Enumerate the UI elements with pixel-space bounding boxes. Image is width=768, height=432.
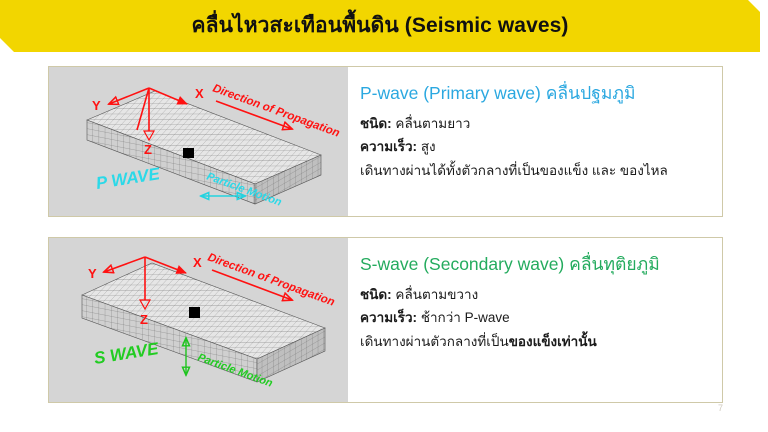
s-wave-medium-emphasis: ของแข็งเท่านั้น [509, 334, 597, 349]
axis-label-x: X [195, 86, 204, 101]
s-wave-medium-line: เดินทางผ่านตัวกลางที่เป็นของแข็งเท่านั้น [360, 332, 712, 353]
p-wave-card: X Y Z Direction of Propagation P WAVE Pa… [48, 66, 723, 217]
s-wave-heading: S-wave (Secondary wave) คลื่นทุติยภูมิ [360, 254, 712, 276]
s-wave-speed-label: ความเร็ว: [360, 310, 417, 325]
page-number: 7 [718, 403, 723, 413]
s-wave-type-line: ชนิด: คลื่นตามขวาง [360, 285, 712, 306]
s-wave-type-label: ชนิด: [360, 287, 392, 302]
axis-label-y: Y [88, 266, 97, 281]
p-wave-speed-value: สูง [421, 139, 436, 154]
p-wave-medium-prefix: เดินทางผ่านได้ทั้งตัวกลางที่เป็นของแข็ง … [360, 163, 668, 178]
p-wave-type-label: ชนิด: [360, 116, 392, 131]
slide-title-banner: คลื่นไหวสะเทือนพื้นดิน (Seismic waves) [0, 0, 760, 52]
s-wave-card: X Y Z Direction of Propagation S WAVE Pa… [48, 237, 723, 403]
p-wave-heading: P-wave (Primary wave) คลื่นปฐมภูมิ [360, 83, 712, 105]
p-wave-figure: X Y Z Direction of Propagation P WAVE Pa… [49, 67, 348, 216]
particle-marker [189, 307, 200, 318]
s-wave-figure: X Y Z Direction of Propagation S WAVE Pa… [49, 238, 348, 402]
s-wave-text-pane: S-wave (Secondary wave) คลื่นทุติยภูมิ ช… [348, 238, 722, 402]
page-title: คลื่นไหวสะเทือนพื้นดิน (Seismic waves) [191, 15, 568, 38]
s-wave-speed-line: ความเร็ว: ช้ากว่า P-wave [360, 308, 712, 329]
p-wave-diagram-svg: X Y Z Direction of Propagation P WAVE Pa… [49, 67, 348, 216]
p-wave-type-value: คลื่นตามยาว [395, 116, 470, 131]
p-wave-medium-line: เดินทางผ่านได้ทั้งตัวกลางที่เป็นของแข็ง … [360, 161, 712, 182]
p-wave-text-pane: P-wave (Primary wave) คลื่นปฐมภูมิ ชนิด:… [348, 67, 722, 216]
s-wave-speed-value: ช้ากว่า P-wave [421, 310, 510, 325]
axis-label-z: Z [140, 312, 148, 327]
s-wave-medium-prefix: เดินทางผ่านตัวกลางที่เป็น [360, 334, 509, 349]
p-wave-type-line: ชนิด: คลื่นตามยาว [360, 114, 712, 135]
p-wave-speed-line: ความเร็ว: สูง [360, 137, 712, 158]
axis-label-x: X [193, 255, 202, 270]
particle-marker [183, 148, 194, 158]
s-wave-type-value: คลื่นตามขวาง [395, 287, 478, 302]
s-wave-diagram-svg: X Y Z Direction of Propagation S WAVE Pa… [49, 238, 348, 402]
p-wave-speed-label: ความเร็ว: [360, 139, 417, 154]
axis-label-y: Y [92, 98, 101, 113]
axis-label-z: Z [144, 142, 152, 157]
